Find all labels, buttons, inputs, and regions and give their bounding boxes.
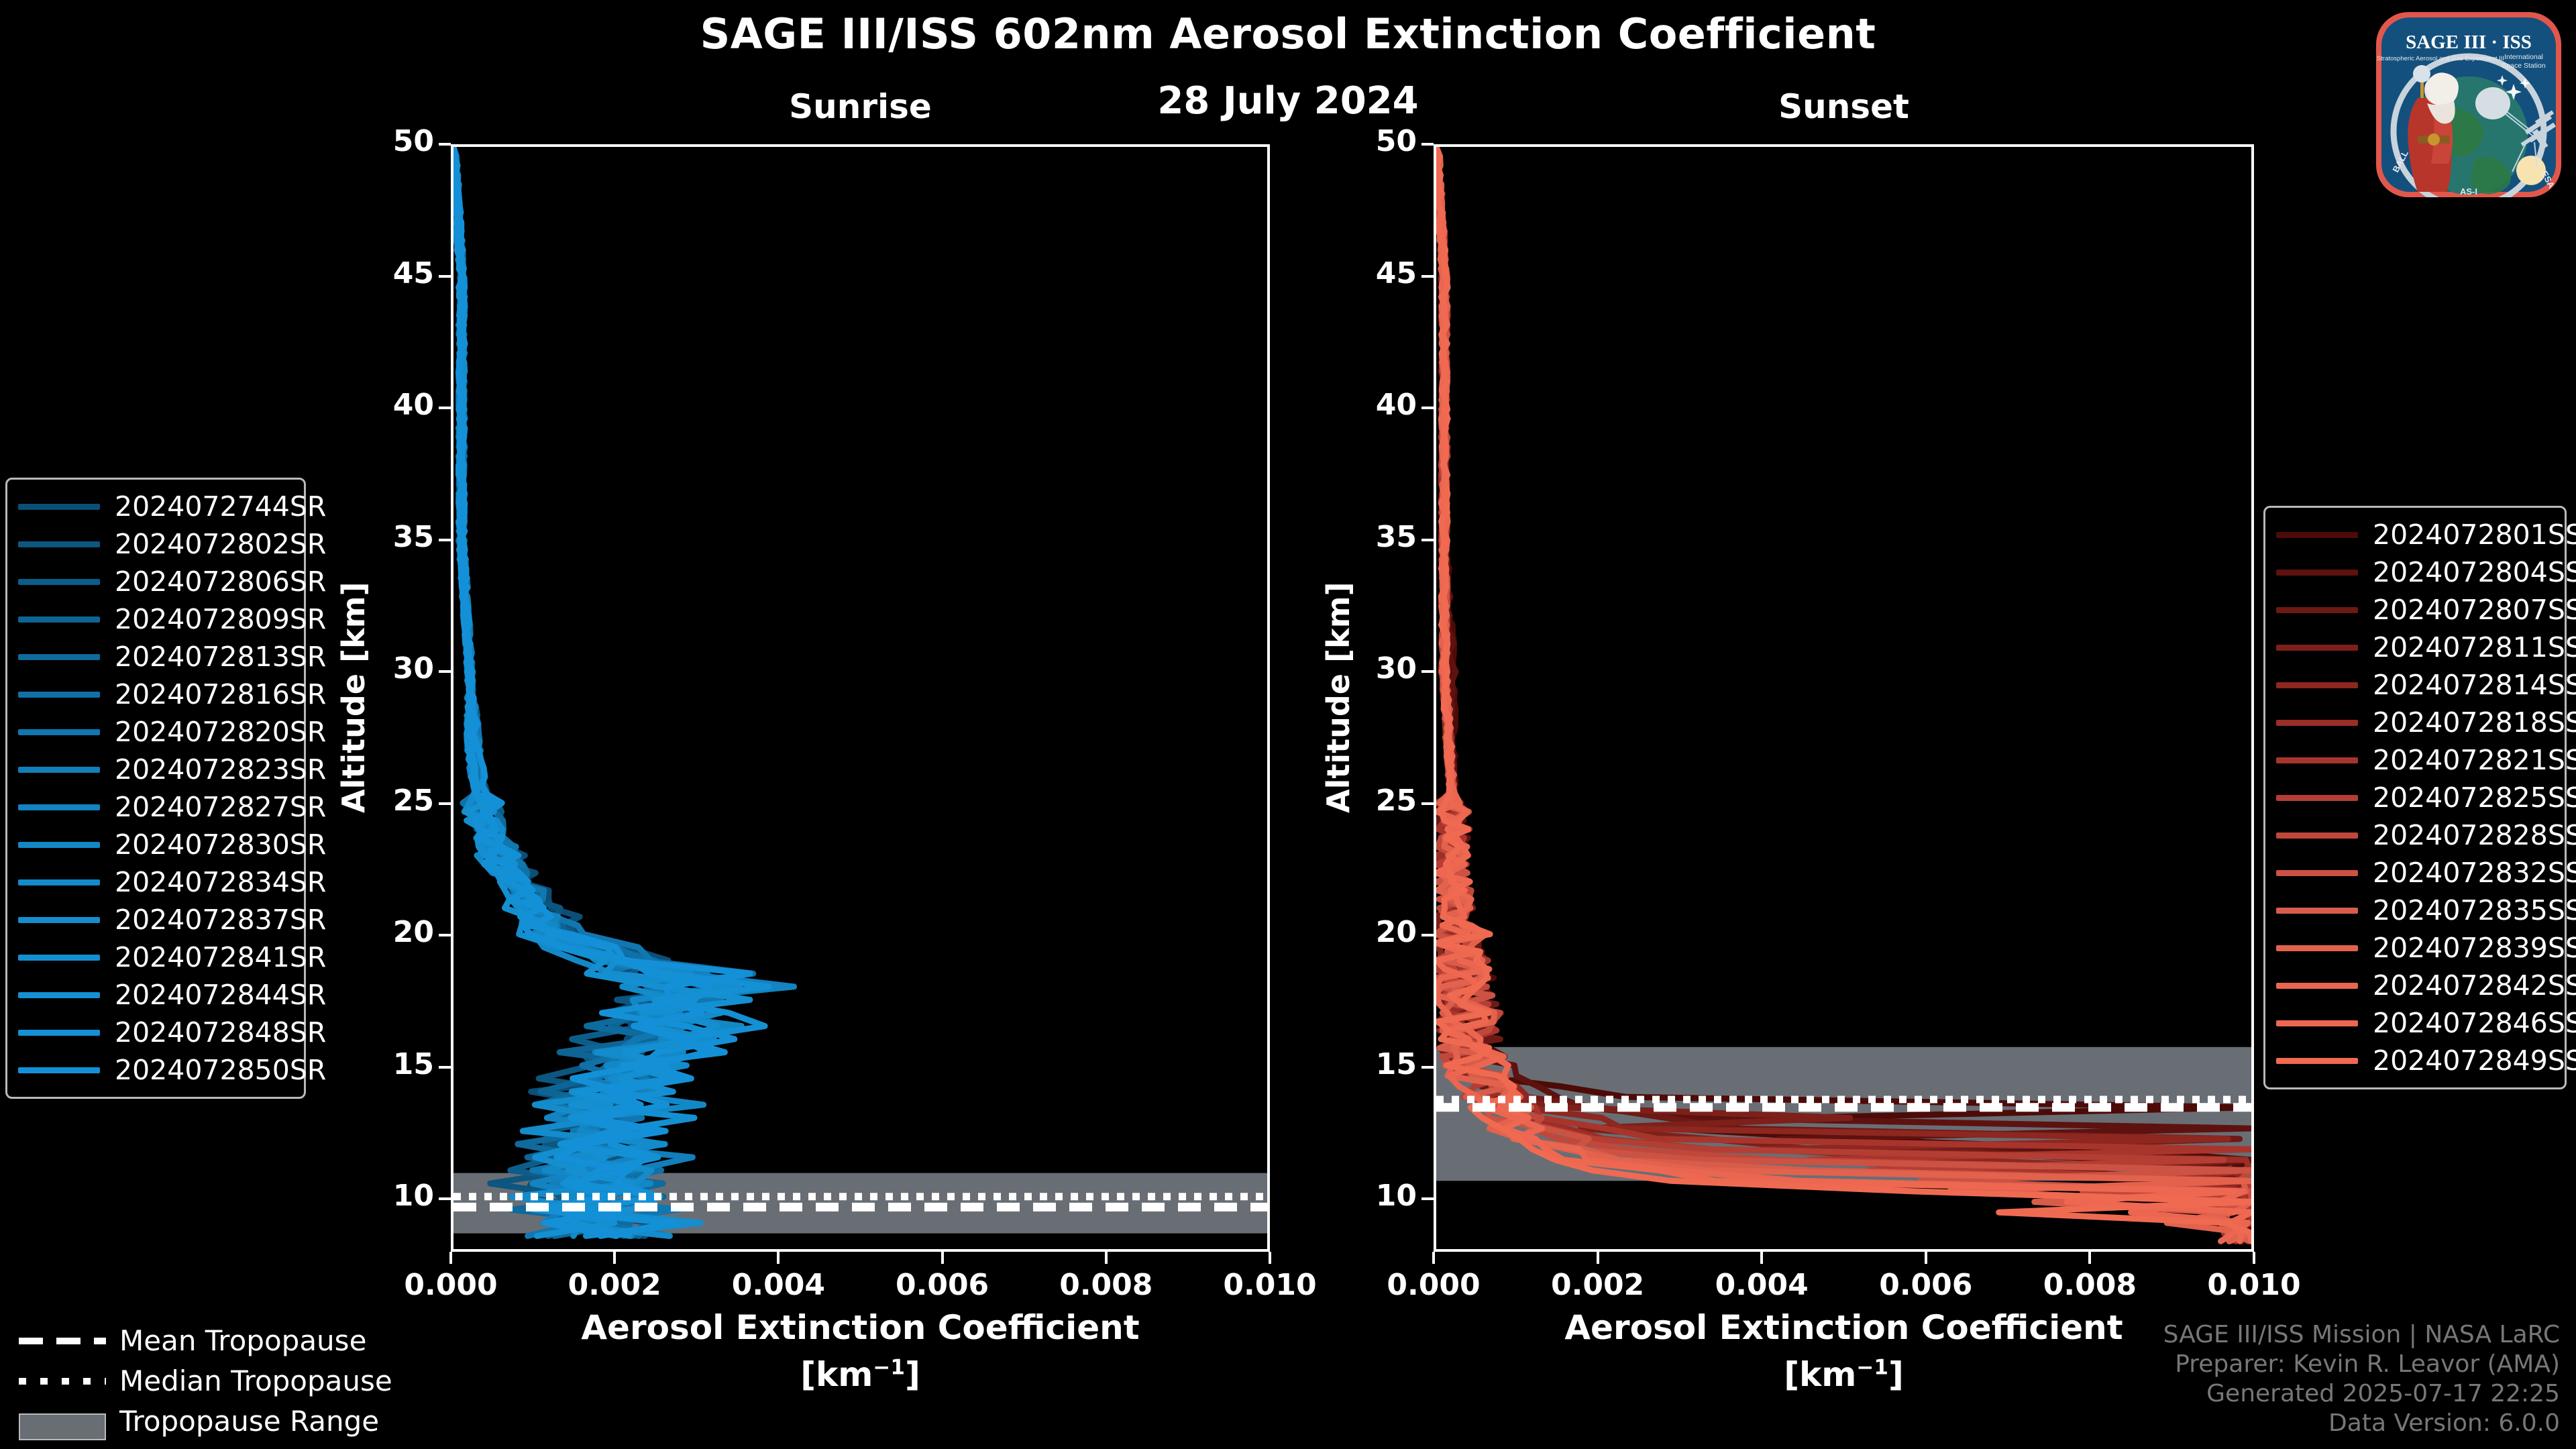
sunrise-y-tick-mark [439, 802, 451, 805]
sunrise-x-tick-mark [449, 1252, 452, 1264]
sunrise-y-tick-mark [439, 143, 451, 146]
legend-item-2024072818SS[interactable]: 2024072818SS [2276, 704, 2554, 741]
legend-item-2024072823SR[interactable]: 2024072823SR [18, 751, 293, 788]
sunrise-y-tick-mark [439, 1197, 451, 1200]
legend-item-2024072844SR[interactable]: 2024072844SR [18, 976, 293, 1014]
legend-item-2024072811SS[interactable]: 2024072811SS [2276, 629, 2554, 666]
legend-label-2024072839SS: 2024072839SS [2373, 932, 2576, 964]
legend-label-2024072844SR: 2024072844SR [115, 979, 326, 1011]
sunrise-x-tick-mark [613, 1252, 616, 1264]
sunset-y-tick-mark [1421, 539, 1434, 541]
legend-item-2024072804SS[interactable]: 2024072804SS [2276, 553, 2554, 591]
sunset-x-tick-0.002: 0.002 [1517, 1268, 1678, 1302]
sunset-x-axis-label: Aerosol Extinction Coefficient [1434, 1308, 2254, 1347]
legend-color-swatch-icon [18, 579, 100, 585]
sunrise-x-tick-0.008: 0.008 [1026, 1268, 1187, 1302]
sunset-y-tick-50: 50 [1316, 124, 1417, 158]
sunset-y-tick-35: 35 [1316, 520, 1417, 554]
dotted-line-icon [19, 1373, 106, 1388]
legend-item-2024072850SR[interactable]: 2024072850SR [18, 1051, 293, 1089]
legend-color-swatch-icon [18, 1067, 100, 1073]
sunset-y-tick-25: 25 [1316, 784, 1417, 818]
sunset-unit-exponent: −1 [1856, 1355, 1888, 1379]
legend-label-2024072828SS: 2024072828SS [2373, 819, 2576, 851]
sunrise-x-tick-mark [1269, 1252, 1271, 1264]
sunrise-x-tick-0.010: 0.010 [1189, 1268, 1350, 1302]
legend-label-2024072825SS: 2024072825SS [2373, 782, 2576, 814]
sunset-y-tick-20: 20 [1316, 915, 1417, 949]
legend-item-mean-tropopause: Mean Tropopause [19, 1320, 394, 1360]
sunset-y-tick-mark [1421, 670, 1434, 673]
patch-partner-bottom-text: AS-I [2460, 186, 2477, 197]
legend-label-2024072848SR: 2024072848SR [115, 1016, 326, 1049]
legend-item-2024072813SR[interactable]: 2024072813SR [18, 638, 293, 676]
sunrise-x-tick-mark [941, 1252, 944, 1264]
sunrise-x-tick-mark [1105, 1252, 1108, 1264]
legend-item-2024072821SS[interactable]: 2024072821SS [2276, 741, 2554, 779]
legend-item-2024072816SR[interactable]: 2024072816SR [18, 676, 293, 713]
legend-color-swatch-icon [2276, 983, 2358, 989]
sunrise-y-tick-mark [439, 934, 451, 936]
legend-item-2024072744SR[interactable]: 2024072744SR [18, 488, 293, 525]
sunrise-y-axis-label: Altitude [km] [335, 510, 372, 885]
sunrise-plot-panel [451, 144, 1270, 1252]
legend-color-swatch-icon [2276, 870, 2358, 876]
sunset-unit-close: ] [1888, 1355, 1904, 1394]
legend-color-swatch-icon [18, 917, 100, 923]
legend-color-swatch-icon [2276, 908, 2358, 914]
legend-label-2024072841SR: 2024072841SR [115, 941, 326, 973]
legend-color-swatch-icon [2276, 607, 2358, 613]
legend-color-swatch-icon [2276, 795, 2358, 801]
sunrise-y-tick-40: 40 [333, 388, 434, 422]
patch-iss-line2-text: Space Station [2502, 62, 2546, 70]
sunset-x-tick-mark [2088, 1252, 2091, 1264]
legend-color-swatch-icon [18, 616, 100, 623]
legend-label-2024072823SR: 2024072823SR [115, 753, 326, 786]
legend-label-2024072846SS: 2024072846SS [2373, 1007, 2576, 1039]
sunset-event-legend[interactable]: 2024072801SS2024072804SS2024072807SS2024… [2263, 506, 2567, 1089]
sunset-x-tick-0.008: 0.008 [2009, 1268, 2170, 1302]
legend-label-2024072830SR: 2024072830SR [115, 828, 326, 861]
legend-color-swatch-icon [2276, 1058, 2358, 1064]
legend-label-2024072849SS: 2024072849SS [2373, 1044, 2576, 1077]
sunrise-y-tick-mark [439, 1066, 451, 1069]
legend-item-2024072820SR[interactable]: 2024072820SR [18, 713, 293, 751]
legend-label-2024072806SR: 2024072806SR [115, 566, 326, 598]
legend-color-swatch-icon [18, 955, 100, 961]
sunset-y-tick-10: 10 [1316, 1179, 1417, 1213]
legend-color-swatch-icon [18, 879, 100, 885]
legend-label-2024072811SS: 2024072811SS [2373, 631, 2576, 663]
legend-item-2024072809SR[interactable]: 2024072809SR [18, 600, 293, 638]
sunset-plot-panel [1434, 144, 2254, 1252]
legend-item-2024072806SR[interactable]: 2024072806SR [18, 563, 293, 600]
legend-item-2024072834SR[interactable]: 2024072834SR [18, 863, 293, 901]
legend-color-swatch-icon [2276, 570, 2358, 576]
sunrise-y-tick-mark [439, 539, 451, 541]
legend-color-swatch-icon [18, 504, 100, 510]
sunset-x-tick-mark [1432, 1252, 1435, 1264]
sunset-y-tick-mark [1421, 934, 1434, 936]
legend-label-2024072832SS: 2024072832SS [2373, 857, 2576, 889]
legend-item-2024072801SS[interactable]: 2024072801SS [2276, 516, 2554, 553]
sunset-x-tick-mark [1760, 1252, 1763, 1264]
legend-color-swatch-icon [18, 654, 100, 660]
legend-label-2024072744SR: 2024072744SR [115, 490, 326, 523]
legend-color-swatch-icon [18, 842, 100, 848]
legend-item-2024072807SS[interactable]: 2024072807SS [2276, 591, 2554, 629]
sunrise-event-legend[interactable]: 2024072744SR2024072802SR2024072806SR2024… [5, 478, 306, 1099]
legend-label-2024072818SS: 2024072818SS [2373, 706, 2576, 739]
legend-color-swatch-icon [2276, 645, 2358, 651]
sunset-y-tick-mark [1421, 1197, 1434, 1200]
sunset-y-tick-mark [1421, 143, 1434, 146]
legend-item-2024072814SS[interactable]: 2024072814SS [2276, 666, 2554, 704]
legend-label-2024072820SR: 2024072820SR [115, 716, 326, 748]
sunset-x-tick-0.000: 0.000 [1353, 1268, 1514, 1302]
credits-block: SAGE III/ISS Mission | NASA LaRCPreparer… [2163, 1320, 2560, 1438]
legend-label-2024072827SR: 2024072827SR [115, 791, 326, 823]
sunrise-y-tick-35: 35 [333, 520, 434, 554]
sunset-y-tick-40: 40 [1316, 388, 1417, 422]
sunset-y-tick-15: 15 [1316, 1047, 1417, 1081]
sunset-panel-heading: Sunset [1434, 87, 2254, 126]
credits-line-3: Generated 2025-07-17 22:25 [2163, 1379, 2560, 1409]
legend-label-2024072802SR: 2024072802SR [115, 528, 326, 560]
sunrise-y-tick-mark [439, 670, 451, 673]
legend-color-swatch-icon [18, 541, 100, 547]
legend-item-2024072841SR[interactable]: 2024072841SR [18, 938, 293, 976]
legend-label-2024072814SS: 2024072814SS [2373, 669, 2576, 701]
sunset-y-tick-mark [1421, 407, 1434, 409]
legend-item-2024072830SR[interactable]: 2024072830SR [18, 826, 293, 863]
legend-label-2024072801SS: 2024072801SS [2373, 519, 2576, 551]
legend-item-median-tropopause: Median Tropopause [19, 1360, 394, 1401]
sunrise-y-tick-mark [439, 407, 451, 409]
sunrise-y-tick-15: 15 [333, 1047, 434, 1081]
sunrise-x-axis-unit: [km−1] [451, 1355, 1270, 1394]
sunset-unit-base: [km [1784, 1355, 1856, 1394]
patch-title-text: SAGE III · ISS [2406, 32, 2532, 53]
sunrise-y-tick-30: 30 [333, 651, 434, 686]
legend-label-2024072837SR: 2024072837SR [115, 904, 326, 936]
page-title: SAGE III/ISS 602nm Aerosol Extinction Co… [0, 9, 2576, 58]
legend-item-2024072802SR[interactable]: 2024072802SR [18, 525, 293, 563]
sunrise-x-tick-0.004: 0.004 [698, 1268, 859, 1302]
patch-iss-line1-text: International [2504, 53, 2543, 61]
legend-color-swatch-icon [2276, 720, 2358, 726]
legend-item-2024072832SS[interactable]: 2024072832SS [2276, 854, 2554, 892]
legend-label-2024072807SS: 2024072807SS [2373, 594, 2576, 626]
sunrise-x-tick-mark [777, 1252, 780, 1264]
sunrise-y-tick-mark [439, 275, 451, 278]
legend-label-median-tropopause: Median Tropopause [119, 1364, 392, 1397]
legend-label-2024072809SR: 2024072809SR [115, 603, 326, 635]
sunset-y-tick-45: 45 [1316, 256, 1417, 290]
sunrise-y-tick-50: 50 [333, 124, 434, 158]
dashed-line-icon [19, 1333, 106, 1348]
legend-label-2024072834SR: 2024072834SR [115, 866, 326, 898]
sunrise-x-axis-label: Aerosol Extinction Coefficient [451, 1308, 1270, 1347]
sunset-y-tick-mark [1421, 275, 1434, 278]
legend-color-swatch-icon [18, 767, 100, 773]
sunset-x-axis-unit: [km−1] [1434, 1355, 2254, 1394]
legend-label-2024072816SR: 2024072816SR [115, 678, 326, 710]
sunset-y-tick-mark [1421, 802, 1434, 805]
legend-label-2024072821SS: 2024072821SS [2373, 744, 2576, 776]
legend-color-swatch-icon [18, 1030, 100, 1036]
sunset-y-axis-label: Altitude [km] [1320, 510, 1356, 885]
legend-label-2024072813SR: 2024072813SR [115, 641, 326, 673]
legend-label-2024072835SS: 2024072835SS [2373, 894, 2576, 926]
legend-label-mean-tropopause: Mean Tropopause [119, 1324, 366, 1357]
profile-line-2024072848SR [453, 147, 735, 1236]
legend-item-2024072849SS[interactable]: 2024072849SS [2276, 1042, 2554, 1079]
sunset-x-tick-mark [2253, 1252, 2255, 1264]
sunrise-unit-close: ] [905, 1355, 920, 1394]
legend-color-swatch-icon [18, 804, 100, 810]
sunset-y-tick-mark [1421, 1066, 1434, 1069]
sunrise-unit-base: [km [800, 1355, 873, 1394]
sunset-y-tick-30: 30 [1316, 651, 1417, 686]
sunrise-y-tick-45: 45 [333, 256, 434, 290]
sunset-x-tick-0.010: 0.010 [2173, 1268, 2334, 1302]
legend-label-2024072850SR: 2024072850SR [115, 1054, 326, 1086]
legend-item-2024072825SS[interactable]: 2024072825SS [2276, 779, 2554, 816]
sunrise-x-tick-0.002: 0.002 [534, 1268, 695, 1302]
legend-item-2024072828SS[interactable]: 2024072828SS [2276, 816, 2554, 854]
sunrise-y-tick-25: 25 [333, 784, 434, 818]
sunrise-unit-exponent: −1 [873, 1355, 905, 1379]
legend-color-swatch-icon [2276, 757, 2358, 763]
legend-item-2024072839SS[interactable]: 2024072839SS [2276, 929, 2554, 967]
sunset-x-tick-0.006: 0.006 [1845, 1268, 2006, 1302]
sunrise-y-tick-10: 10 [333, 1179, 434, 1213]
legend-color-swatch-icon [2276, 945, 2358, 951]
sunrise-panel-heading: Sunrise [451, 87, 1270, 126]
legend-item-2024072835SS[interactable]: 2024072835SS [2276, 892, 2554, 929]
sunset-x-tick-0.004: 0.004 [1681, 1268, 1842, 1302]
legend-item-2024072827SR[interactable]: 2024072827SR [18, 788, 293, 826]
legend-color-swatch-icon [2276, 1020, 2358, 1026]
credits-line-1: SAGE III/ISS Mission | NASA LaRC [2163, 1320, 2560, 1350]
patch-subtitle-text: Stratospheric Aerosol and Gas Experiment… [2377, 55, 2504, 62]
sunrise-x-tick-0.006: 0.006 [862, 1268, 1023, 1302]
legend-item-2024072842SS[interactable]: 2024072842SS [2276, 967, 2554, 1004]
legend-item-2024072846SS[interactable]: 2024072846SS [2276, 1004, 2554, 1042]
tropopause-legend: Mean Tropopause Median Tropopause Tropop… [19, 1320, 394, 1441]
legend-color-swatch-icon [2276, 532, 2358, 538]
sage-iii-iss-mission-patch-logo: AS-I SAGE III · ISS Stratospheric Aeroso… [2368, 4, 2569, 205]
credits-line-2: Preparer: Kevin R. Leavor (AMA) [2163, 1350, 2560, 1379]
legend-label-tropopause-range: Tropopause Range [119, 1405, 379, 1438]
legend-color-swatch-icon [18, 992, 100, 998]
legend-color-swatch-icon [18, 692, 100, 698]
sunset-x-tick-mark [1925, 1252, 1927, 1264]
legend-item-2024072848SR[interactable]: 2024072848SR [18, 1014, 293, 1051]
legend-item-2024072837SR[interactable]: 2024072837SR [18, 901, 293, 938]
sunset-x-tick-mark [1597, 1252, 1599, 1264]
legend-item-tropopause-range: Tropopause Range [19, 1401, 394, 1441]
sunrise-x-tick-0.000: 0.000 [370, 1268, 531, 1302]
legend-color-swatch-icon [2276, 682, 2358, 688]
credits-line-4: Data Version: 6.0.0 [2163, 1409, 2560, 1438]
sunrise-y-tick-20: 20 [333, 915, 434, 949]
legend-color-swatch-icon [2276, 833, 2358, 839]
legend-label-2024072804SS: 2024072804SS [2373, 556, 2576, 588]
legend-label-2024072842SS: 2024072842SS [2373, 969, 2576, 1002]
range-swatch-icon [19, 1413, 106, 1428]
legend-color-swatch-icon [18, 729, 100, 735]
